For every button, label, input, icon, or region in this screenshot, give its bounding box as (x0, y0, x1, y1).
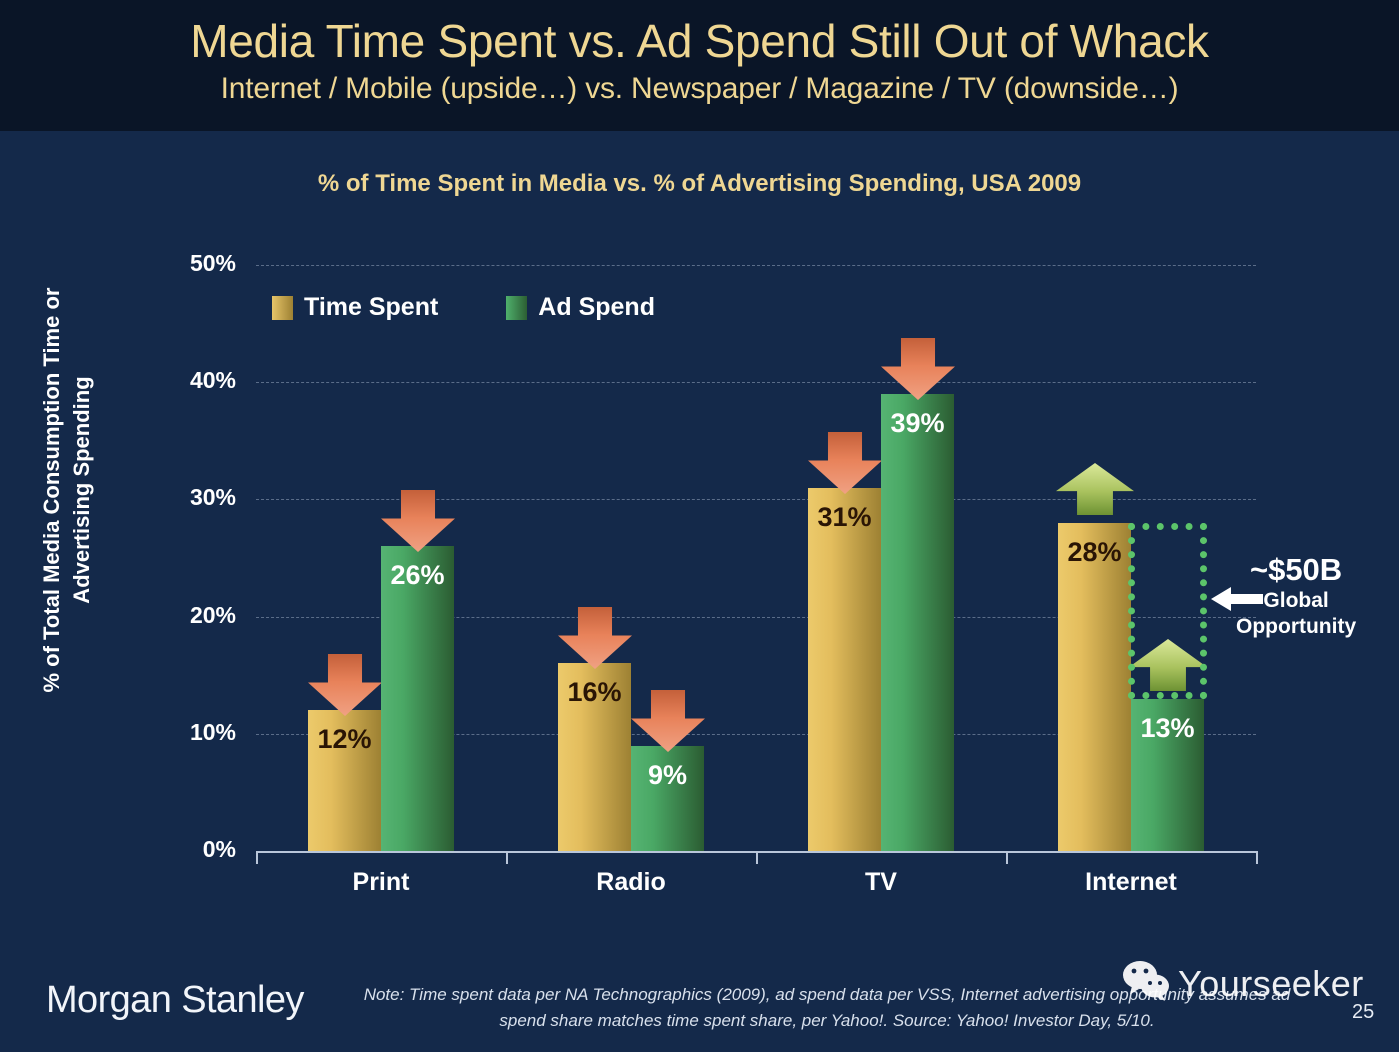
gridline (256, 382, 1256, 383)
legend-swatch-ad-spend (506, 296, 527, 320)
y-axis-caption: % of Total Media Consumption Time or Adv… (37, 255, 97, 725)
bar-tv-time-spent (808, 488, 881, 851)
x-axis-tick (1006, 851, 1008, 864)
opportunity-line3: Opportunity (1236, 614, 1356, 640)
slide: Media Time Spent vs. Ad Spend Still Out … (0, 0, 1399, 1052)
bar-value-label: 12% (302, 724, 387, 755)
down-arrow-icon (308, 654, 382, 716)
x-axis-tick (256, 851, 258, 864)
opportunity-line2: Global (1236, 588, 1356, 614)
bar-value-label: 39% (875, 408, 960, 439)
down-arrow-icon (381, 490, 455, 552)
chart-legend: Time Spent Ad Spend (272, 293, 655, 322)
category-label-radio: Radio (521, 868, 741, 897)
bar-tv-ad-spend (881, 394, 954, 851)
bar-value-label: 26% (375, 560, 460, 591)
opportunity-callout: ~$50B Global Opportunity (1236, 552, 1356, 640)
x-axis-tick (506, 851, 508, 864)
category-label-internet: Internet (1021, 868, 1241, 897)
legend-item-ad-spend: Ad Spend (506, 293, 655, 322)
bar-value-label: 16% (552, 677, 637, 708)
slide-subtitle: Internet / Mobile (upside…) vs. Newspape… (0, 72, 1399, 106)
gridline (256, 265, 1256, 266)
x-axis-tick (756, 851, 758, 864)
bar-print-ad-spend (381, 546, 454, 851)
brand-logo: Morgan Stanley (46, 979, 304, 1022)
down-arrow-icon (558, 607, 632, 669)
watermark: Yourseeker (1122, 960, 1364, 1007)
opportunity-dotted-box (1128, 523, 1207, 699)
bar-internet-time-spent (1058, 523, 1131, 851)
y-axis-tick-label: 30% (116, 484, 236, 511)
bar-value-label: 31% (802, 502, 887, 533)
up-arrow-icon (1056, 463, 1134, 515)
down-arrow-icon (881, 338, 955, 400)
down-arrow-icon (631, 690, 705, 752)
bar-value-label: 28% (1052, 537, 1137, 568)
category-label-print: Print (271, 868, 491, 897)
y-axis-tick-label: 50% (116, 250, 236, 277)
y-axis-tick-label: 0% (116, 836, 236, 863)
legend-item-time-spent: Time Spent (272, 293, 438, 322)
opportunity-amount: ~$50B (1236, 552, 1356, 588)
footnote-line-2: spend share matches time spent share, pe… (316, 1008, 1338, 1034)
x-axis-tick (1256, 851, 1258, 864)
chart-title: % of Time Spent in Media vs. % of Advert… (0, 170, 1399, 198)
slide-title: Media Time Spent vs. Ad Spend Still Out … (0, 14, 1399, 68)
category-label-tv: TV (771, 868, 991, 897)
down-arrow-icon (808, 432, 882, 494)
bar-value-label: 9% (625, 760, 710, 791)
legend-label-ad-spend: Ad Spend (538, 293, 655, 322)
legend-label-time-spent: Time Spent (304, 293, 438, 322)
y-axis-tick-label: 20% (116, 602, 236, 629)
wechat-icon (1122, 960, 1172, 1007)
watermark-text: Yourseeker (1178, 963, 1364, 1005)
y-axis-tick-label: 10% (116, 719, 236, 746)
y-axis-tick-label: 40% (116, 367, 236, 394)
legend-swatch-time-spent (272, 296, 293, 320)
bar-value-label: 13% (1125, 713, 1210, 744)
